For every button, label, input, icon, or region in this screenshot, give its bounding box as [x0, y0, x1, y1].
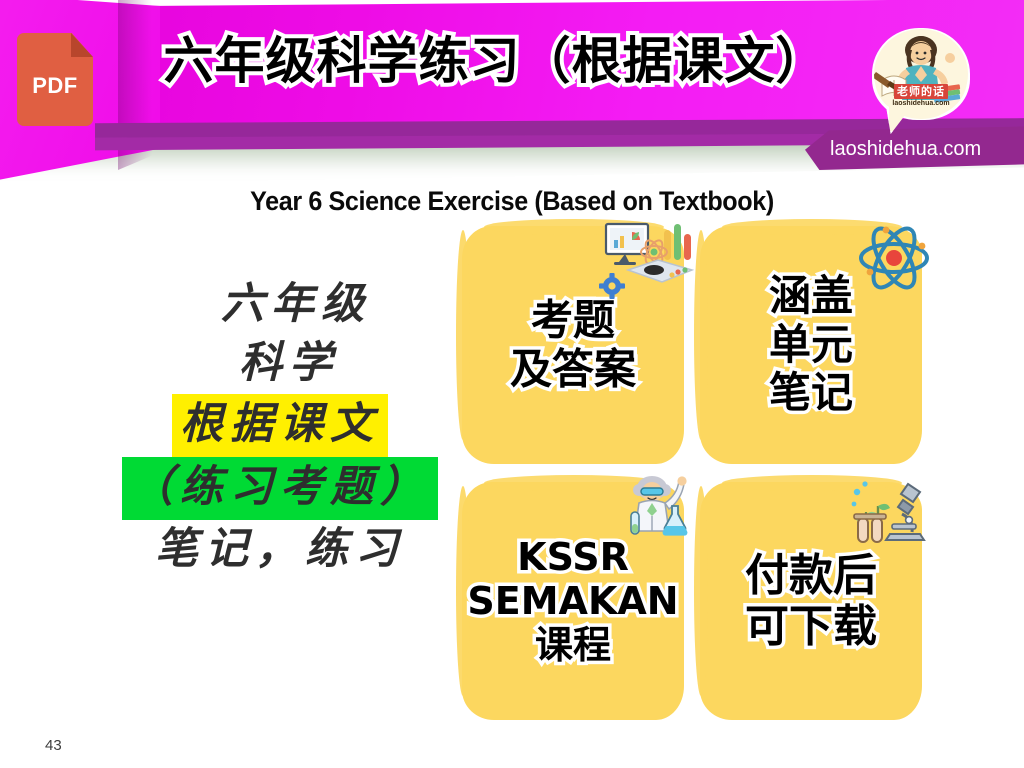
page-subtitle: Year 6 Science Exercise (Based on Textbo… — [36, 186, 988, 217]
brand-logo-url: laoshidehua.com — [884, 100, 958, 107]
pdf-icon: PDF — [17, 33, 93, 126]
pdf-icon-label: PDF — [17, 73, 93, 99]
brand-logo[interactable]: 老师的话 laoshidehua.com — [872, 28, 970, 136]
microscope-test-tube-icon — [848, 474, 932, 548]
feature-card-label: 涵盖 单元 笔记 — [700, 272, 922, 418]
feature-card-label: 考题 及答案 — [462, 296, 684, 393]
feature-card-kssr-semakan[interactable]: KSSR SEMAKAN 课程 — [462, 482, 684, 720]
handwritten-notes: 六年级 科学 根据课文 （练习考题） 笔记，练习 — [105, 275, 455, 580]
handwritten-line-highlighted-green: （练习考题） — [105, 457, 455, 520]
card-line: 课程 — [462, 623, 684, 667]
handwritten-text: 科学 — [239, 338, 339, 388]
feature-card-grid: 考题 及答案 涵盖 单元 笔记 — [462, 226, 934, 726]
card-line: 付款后 — [700, 550, 922, 601]
card-line: 考题 — [462, 296, 684, 345]
site-url-label[interactable]: laoshidehua.com — [830, 138, 1024, 161]
brand-logo-name: 老师的话 — [894, 84, 948, 99]
card-line: 及答案 — [462, 345, 684, 394]
handwritten-text: 根据课文 — [172, 394, 388, 457]
feature-card-exam-answers[interactable]: 考题 及答案 — [462, 226, 684, 464]
feature-card-download-after-payment[interactable]: 付款后 可下载 — [700, 482, 922, 720]
feature-card-label: 付款后 可下载 — [700, 550, 922, 652]
feature-card-label: KSSR SEMAKAN 课程 — [462, 535, 684, 667]
page-number: 43 — [45, 737, 62, 754]
handwritten-line-highlighted-yellow: 根据课文 — [105, 394, 455, 457]
slide: PDF 六年级科学练习（根据课文） — [0, 0, 1024, 768]
handwritten-line: 科学 — [105, 334, 455, 393]
handwritten-line: 六年级 — [105, 275, 455, 334]
feature-card-unit-notes[interactable]: 涵盖 单元 笔记 — [700, 226, 922, 464]
card-line: SEMAKAN — [462, 579, 684, 623]
card-line: 单元 — [700, 321, 922, 370]
card-line: 笔记 — [700, 369, 922, 418]
card-line: 可下载 — [700, 601, 922, 652]
card-line: 涵盖 — [700, 272, 922, 321]
handwritten-text: （练习考题） — [122, 457, 438, 520]
page-title: 六年级科学练习（根据课文） — [150, 34, 840, 89]
handwritten-line: 笔记，练习 — [105, 520, 455, 579]
handwritten-text: 六年级 — [221, 279, 371, 329]
card-line: KSSR — [462, 535, 684, 579]
handwritten-text: 笔记，练习 — [155, 524, 405, 574]
